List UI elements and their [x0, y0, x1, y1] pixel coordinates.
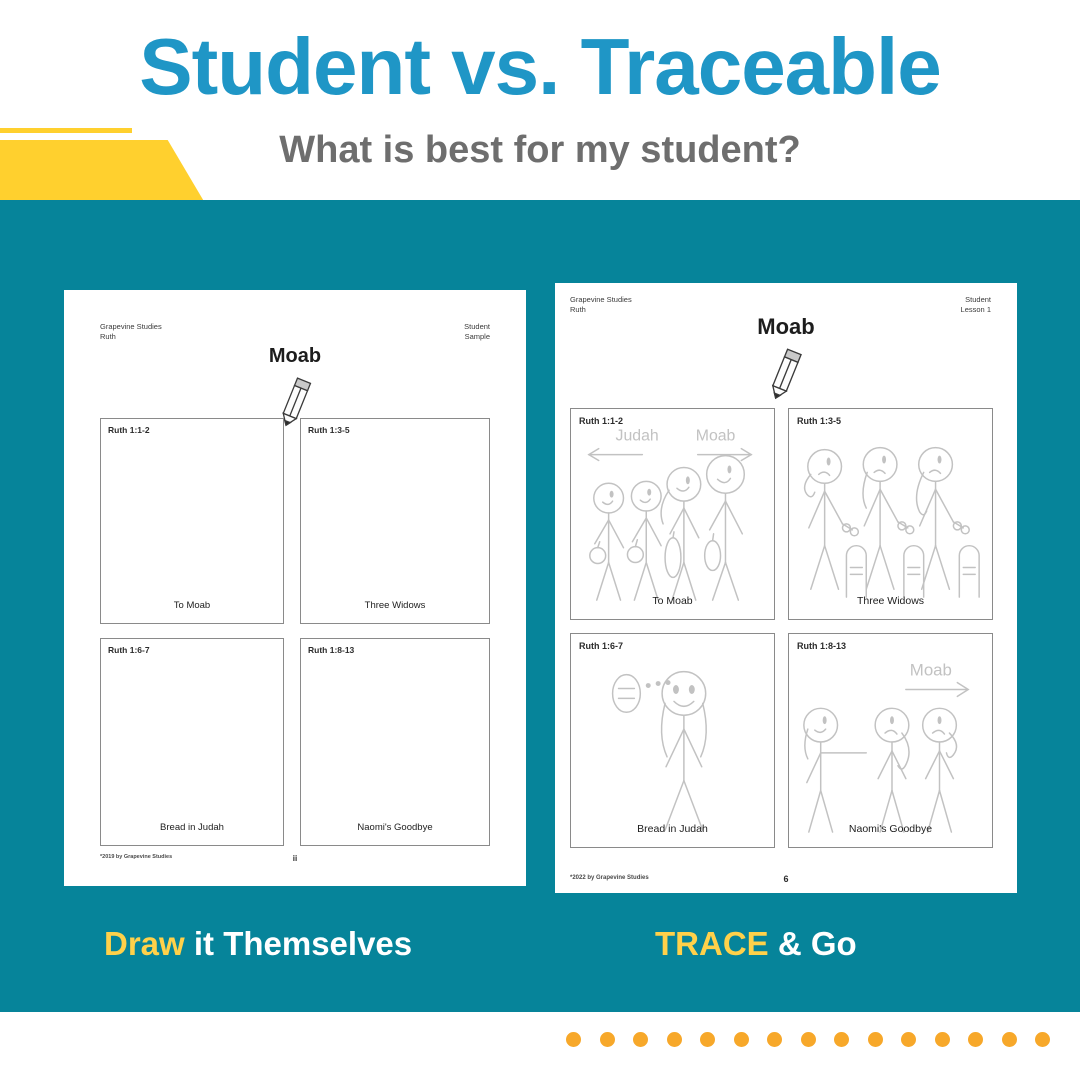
panel-trace-label-moab: Moab	[696, 428, 736, 445]
footer-dot	[1002, 1032, 1017, 1047]
panel-artwork-three-widows	[789, 409, 992, 619]
caption-accent-word: Draw	[104, 925, 185, 962]
panel-scripture-ref: Ruth 1:3-5	[797, 416, 841, 426]
worksheet-student-sample[interactable]: Grapevine Studies Ruth Student Sample Mo…	[64, 290, 526, 886]
footer-dot	[935, 1032, 950, 1047]
worksheet-panel[interactable]: Ruth 1:1-2 To Moab	[100, 418, 284, 624]
panel-trace-label-judah: Judah	[616, 428, 659, 445]
footer-dot	[1035, 1032, 1050, 1047]
worksheet-page-number: 6	[555, 874, 1017, 884]
caption-draw-it-themselves: Draw it Themselves	[104, 925, 412, 963]
panel-scripture-ref: Ruth 1:8-13	[308, 645, 354, 655]
panel-scripture-ref: Ruth 1:6-7	[108, 645, 150, 655]
worksheet-panel[interactable]: Ruth 1:6-7 Bread in Judah	[100, 638, 284, 846]
panel-caption: Naomi's Goodbye	[789, 823, 992, 835]
pencil-icon	[757, 345, 813, 405]
worksheet-meta-left: Grapevine Studies Ruth	[570, 295, 632, 314]
footer-dot	[566, 1032, 581, 1047]
panel-scripture-ref: Ruth 1:1-2	[579, 416, 623, 426]
worksheet-title: Moab	[555, 314, 1017, 340]
footer-dot	[901, 1032, 916, 1047]
panel-caption: Bread in Judah	[101, 822, 283, 833]
worksheet-meta-right: Student Lesson 1	[961, 295, 991, 314]
worksheet-student-lesson-1[interactable]: Grapevine Studies Ruth Student Lesson 1 …	[555, 283, 1017, 893]
caption-trace-and-go: TRACE & Go	[655, 925, 857, 963]
worksheet-meta-right: Student Sample	[464, 322, 490, 341]
panel-trace-label-moab: Moab	[910, 661, 952, 680]
footer-dot	[600, 1032, 615, 1047]
caption-rest-text: it Themselves	[185, 925, 412, 962]
panel-scripture-ref: Ruth 1:3-5	[308, 425, 350, 435]
caption-rest-text: & Go	[769, 925, 857, 962]
worksheet-panel[interactable]: Ruth 1:3-5 Three Widows	[788, 408, 993, 620]
poster-canvas: Student vs. Traceable What is best for m…	[0, 0, 1080, 1080]
panel-scripture-ref: Ruth 1:1-2	[108, 425, 150, 435]
footer-dot	[834, 1032, 849, 1047]
panel-artwork-family-walking: Judah Moab	[571, 409, 774, 619]
panel-caption: Three Widows	[789, 595, 992, 607]
worksheet-panel[interactable]: Ruth 1:8-13 Naomi's Goodbye	[300, 638, 490, 846]
panel-artwork-naomi-farewell: Moab	[789, 634, 992, 847]
footer-dot	[968, 1032, 983, 1047]
footer-dot	[767, 1032, 782, 1047]
worksheet-page-number: ii	[64, 854, 526, 863]
worksheet-panel[interactable]: Moab Ruth 1:8-13 Naomi's Goodbye	[788, 633, 993, 848]
caption-accent-word: TRACE	[655, 925, 769, 962]
footer-dot	[700, 1032, 715, 1047]
page-title: Student vs. Traceable	[0, 22, 1080, 112]
panel-caption: Naomi's Goodbye	[301, 822, 489, 833]
footer-dot	[633, 1032, 648, 1047]
footer-dot	[667, 1032, 682, 1047]
panel-caption: Bread in Judah	[571, 823, 774, 835]
panel-caption: To Moab	[101, 600, 283, 611]
panel-scripture-ref: Ruth 1:6-7	[579, 641, 623, 651]
panel-artwork-bread-in-judah	[571, 634, 774, 847]
worksheet-panel[interactable]: Ruth 1:6-7 Bread in Judah	[570, 633, 775, 848]
worksheet-meta-left: Grapevine Studies Ruth	[100, 322, 162, 341]
footer-dot	[868, 1032, 883, 1047]
footer-dot	[801, 1032, 816, 1047]
panel-caption: Three Widows	[301, 600, 489, 611]
panel-scripture-ref: Ruth 1:8-13	[797, 641, 846, 651]
footer-dot	[734, 1032, 749, 1047]
panel-caption: To Moab	[571, 595, 774, 607]
worksheet-panel[interactable]: Ruth 1:3-5 Three Widows	[300, 418, 490, 624]
page-subtitle: What is best for my student?	[0, 127, 1080, 173]
footer-dot-row	[566, 1032, 1050, 1047]
worksheet-title: Moab	[64, 345, 526, 368]
worksheet-panel[interactable]: Judah Moab Ruth 1:1-2 To Moab	[570, 408, 775, 620]
